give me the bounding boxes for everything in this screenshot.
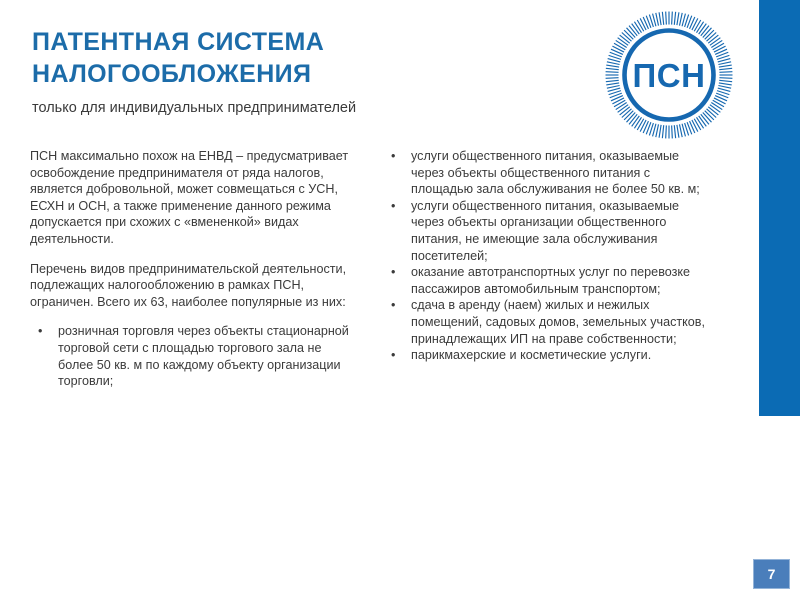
- list-item-label: парикмахерские и косметические услуги.: [411, 348, 651, 362]
- list-item-label: сдача в аренду (наем) жилых и нежилых по…: [411, 298, 705, 345]
- title-block: ПАТЕНТНАЯ СИСТЕМА НАЛОГООБЛОЖЕНИЯ только…: [32, 26, 452, 118]
- left-paragraph-2: Перечень видов предпринимательской деяте…: [30, 261, 352, 311]
- list-item: •услуги общественного питания, оказываем…: [383, 198, 705, 264]
- list-item-label: розничная торговля через объекты стацион…: [58, 324, 349, 388]
- psn-logo-icon: ПСН: [602, 8, 736, 142]
- right-column: •услуги общественного питания, оказываем…: [383, 148, 705, 364]
- right-accent-bar: [759, 0, 800, 416]
- left-bullet-list: •розничная торговля через объекты стацио…: [30, 323, 352, 389]
- list-item-label: услуги общественного питания, оказываемы…: [411, 149, 700, 196]
- slide-body: ПСН максимально похож на ЕНВД – предусма…: [0, 148, 759, 508]
- list-item: •парикмахерские и косметические услуги.: [383, 347, 705, 364]
- page-number-badge: 7: [753, 559, 790, 589]
- slide-header: ПАТЕНТНАЯ СИСТЕМА НАЛОГООБЛОЖЕНИЯ только…: [0, 0, 759, 140]
- psn-logo-label: ПСН: [633, 57, 706, 94]
- bullet-marker-icon: •: [391, 148, 395, 165]
- list-item-label: услуги общественного питания, оказываемы…: [411, 199, 679, 263]
- bullet-marker-icon: •: [391, 347, 395, 364]
- page-title-line-1: ПАТЕНТНАЯ СИСТЕМА: [32, 28, 324, 56]
- left-paragraph-1: ПСН максимально похож на ЕНВД – предусма…: [30, 148, 352, 248]
- page-title: ПАТЕНТНАЯ СИСТЕМА НАЛОГООБЛОЖЕНИЯ: [32, 26, 452, 90]
- bullet-marker-icon: •: [391, 264, 395, 281]
- bullet-marker-icon: •: [391, 297, 395, 314]
- bullet-marker-icon: •: [391, 198, 395, 215]
- right-bullet-list: •услуги общественного питания, оказываем…: [383, 148, 705, 364]
- page-title-line-2: НАЛОГООБЛОЖЕНИЯ: [32, 58, 452, 90]
- list-item: •сдача в аренду (наем) жилых и нежилых п…: [383, 297, 705, 347]
- list-item-label: оказание автотранспортных услуг по перев…: [411, 265, 690, 296]
- bullet-marker-icon: •: [38, 323, 42, 340]
- left-column: ПСН максимально похож на ЕНВД – предусма…: [30, 148, 352, 390]
- slide: ПАТЕНТНАЯ СИСТЕМА НАЛОГООБЛОЖЕНИЯ только…: [0, 0, 800, 600]
- list-item: •услуги общественного питания, оказываем…: [383, 148, 705, 198]
- page-subtitle: только для индивидуальных предпринимател…: [32, 99, 452, 118]
- list-item: •оказание автотранспортных услуг по пере…: [383, 264, 705, 297]
- list-item: •розничная торговля через объекты стацио…: [30, 323, 352, 389]
